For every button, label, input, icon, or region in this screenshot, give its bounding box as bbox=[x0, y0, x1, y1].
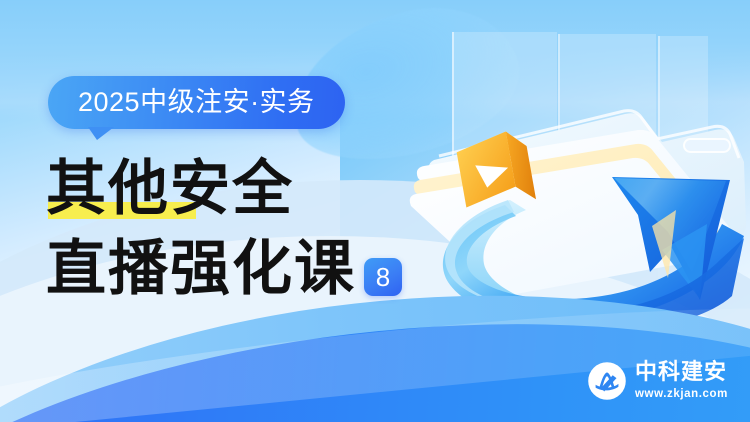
headline-line-1-row: 其他安全 bbox=[46, 150, 476, 228]
brand-url: www.zkjan.com bbox=[635, 389, 728, 401]
brand-name: 中科建安 bbox=[635, 362, 728, 384]
zkjan-circle-logo-icon bbox=[588, 362, 626, 400]
badge-pill[interactable]: 2025中级注安·实务 bbox=[48, 76, 345, 129]
panel-edge-line bbox=[558, 34, 560, 332]
headline-block: 其他安全 直播强化课 8 bbox=[46, 150, 476, 308]
course-category-badge[interactable]: 2025中级注安·实务 bbox=[48, 76, 345, 129]
curved-blue-arrow-icon bbox=[443, 177, 744, 328]
course-promo-banner: 2025中级注安·实务 其他安全 直播强化课 8 中科建安 www.zkjan.… bbox=[0, 0, 750, 422]
badge-label: 2025中级注安·实务 bbox=[78, 89, 315, 116]
brand-text: 中科建安 www.zkjan.com bbox=[635, 362, 728, 401]
translucent-panel-icon bbox=[660, 36, 708, 330]
speech-bubble-tail-icon bbox=[88, 127, 114, 140]
episode-number-badge: 8 bbox=[364, 258, 402, 296]
brand-logo[interactable]: 中科建安 www.zkjan.com bbox=[588, 362, 728, 401]
translucent-panel-icon bbox=[560, 34, 656, 332]
headline-line-1: 其他安全 bbox=[46, 154, 294, 224]
headline-line-2: 直播强化课 bbox=[46, 230, 356, 308]
panel-edge-line bbox=[658, 36, 660, 330]
headline-line-2-row: 直播强化课 8 bbox=[46, 228, 476, 308]
